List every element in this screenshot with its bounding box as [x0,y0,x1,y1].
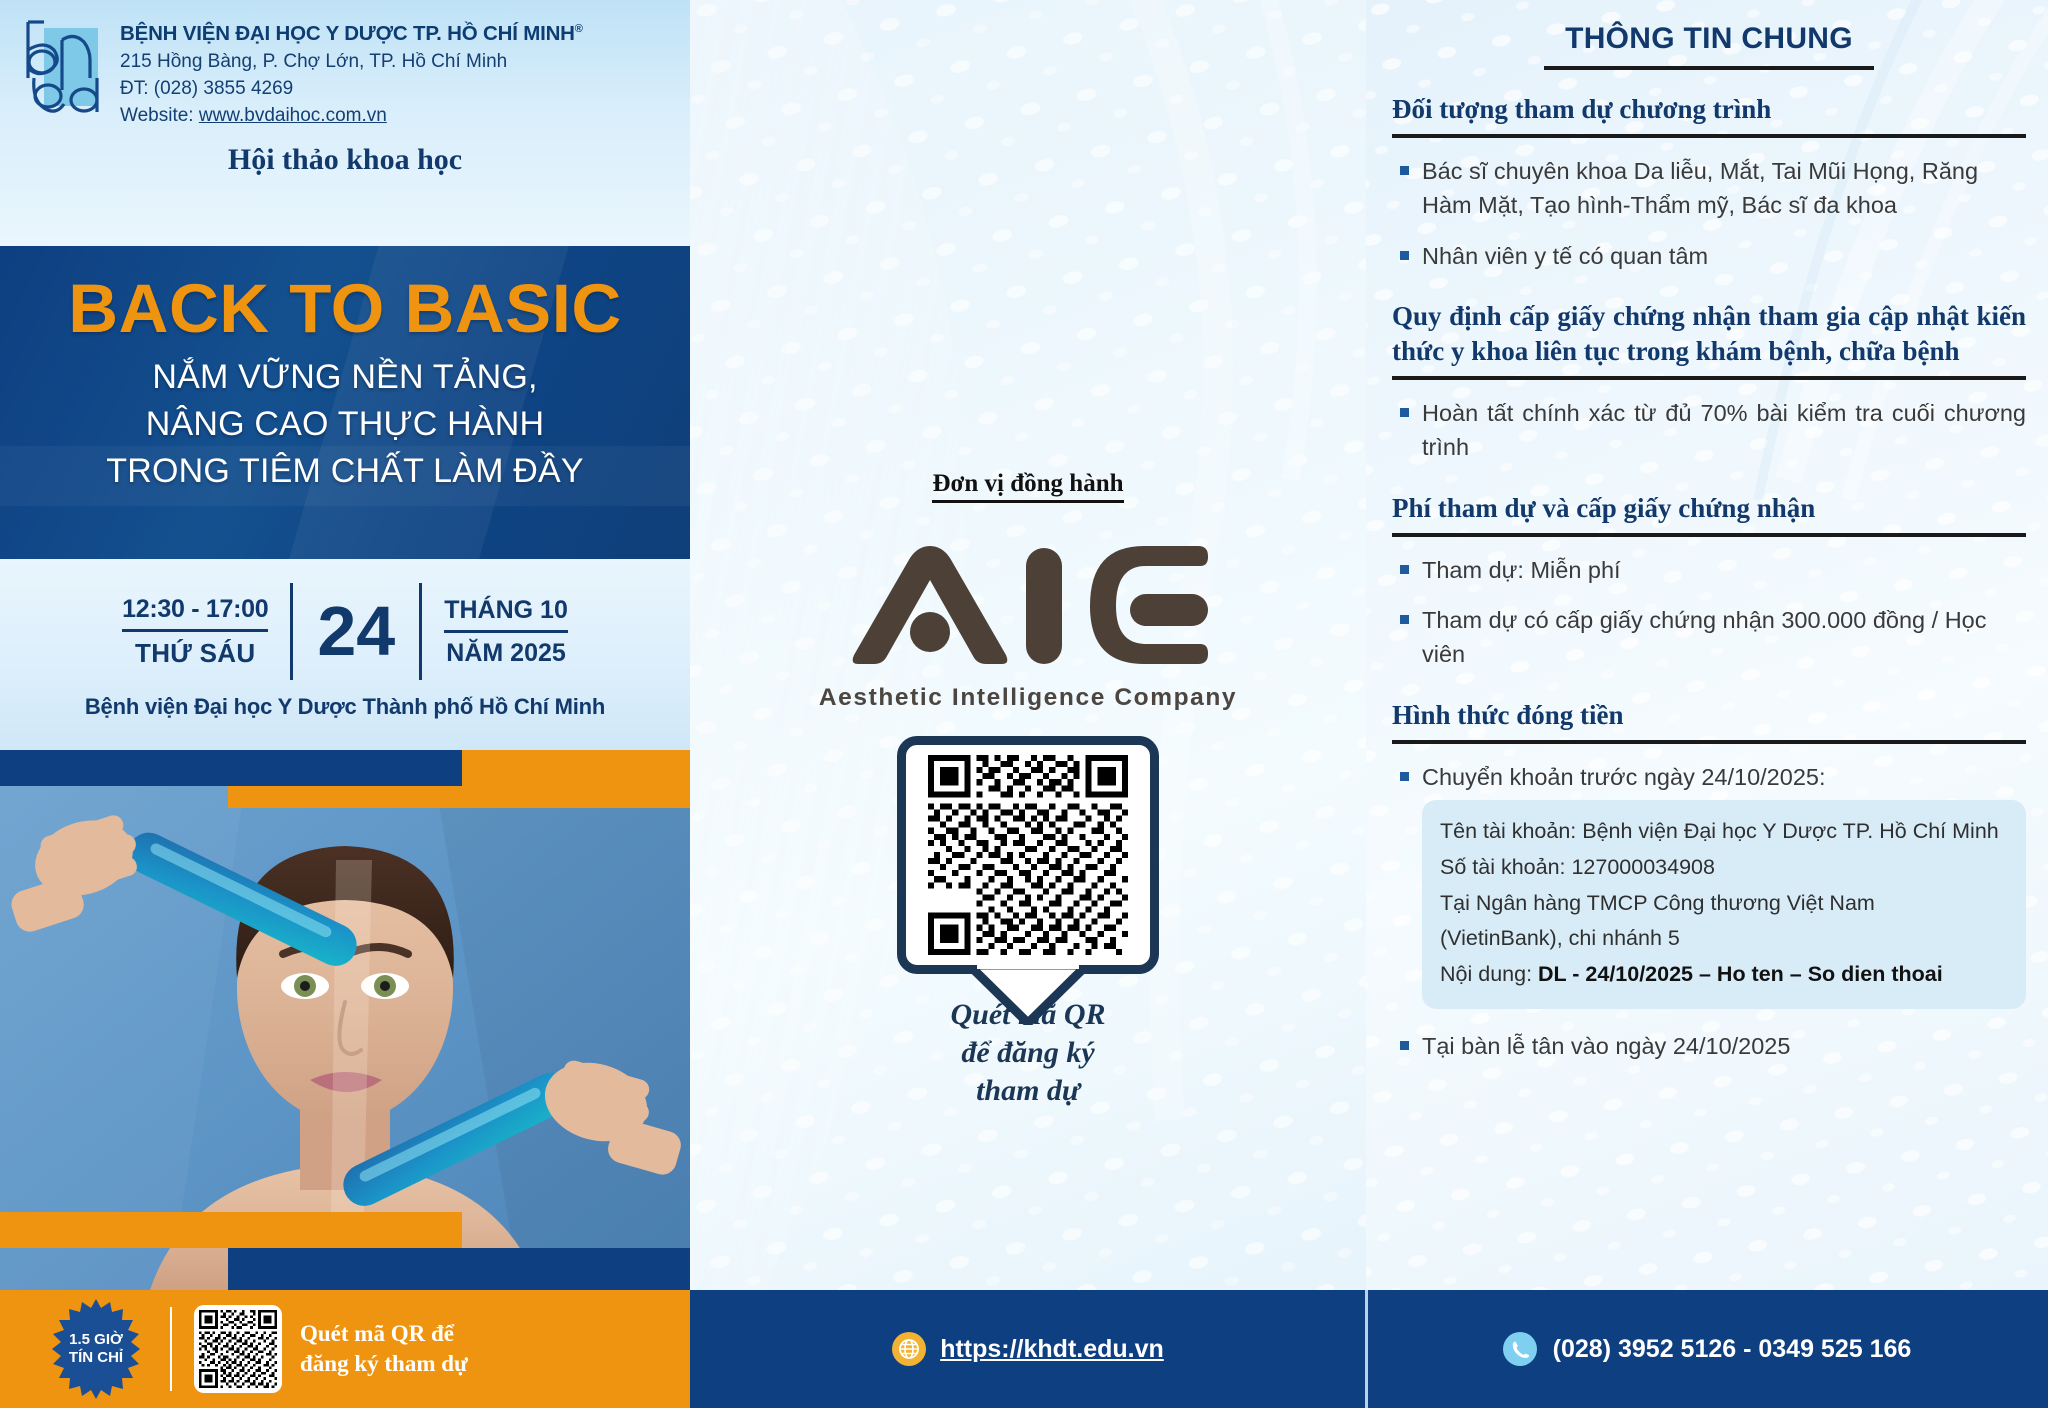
event-venue: Bệnh viện Đại học Y Dược Thành phố Hồ Ch… [0,694,690,720]
deco-bar-orange-bottom [0,1212,462,1248]
section-certificate-rules: Quy định cấp giấy chứng nhận tham gia cậ… [1392,299,2026,465]
bank-account-name: Tên tài khoản: Bệnh viện Đại học Y Dược … [1440,814,2008,850]
section-rule [1392,533,2026,537]
list-item: Chuyển khoản trước ngày 24/10/2025: [1392,760,2026,794]
event-kind: Hội thảo khoa học [0,143,690,177]
section-rule [1392,134,2026,138]
list-item: Tại bàn lễ tân vào ngày 24/10/2025 [1392,1029,2026,1063]
conference-poster: BỆNH VIỆN ĐẠI HỌC Y DƯỢC TP. HỒ CHÍ MINH… [0,0,2048,1408]
subtitle-line-3: TRONG TIÊM CHẤT LÀM ĐẦY [0,449,690,494]
section-certificate-rules-heading: Quy định cấp giấy chứng nhận tham gia cậ… [1392,299,2026,369]
middle-panel: Đơn vị đồng hành Aesthetic Intelligence … [690,0,1366,1408]
hero-photo-illustration [0,750,690,1290]
left-footer-cta: Quét mã QR để đăng ký tham dự [300,1319,468,1379]
main-title: BACK TO BASIC [0,246,690,343]
deco-bar-blue-top [0,750,462,786]
hospital-phone: ĐT: (028) 3855 4269 [120,78,583,100]
list-item: Bác sĩ chuyên khoa Da liễu, Mắt, Tai Mũi… [1392,154,2026,223]
bank-name-line-2: (VietinBank), chi nhánh 5 [1440,921,2008,957]
hospital-name: BỆNH VIỆN ĐẠI HỌC Y DƯỢC TP. HỒ CHÍ MINH… [120,22,583,46]
section-audience-heading: Đối tượng tham dự chương trình [1392,92,2026,127]
transfer-content-label: Nội dung: [1440,962,1532,986]
qr-pointer-tail [969,965,1087,1025]
title-underline [1544,66,1874,70]
section-fees-heading: Phí tham dự và cấp giấy chứng nhận [1392,491,2026,526]
footer-divider [170,1307,172,1391]
bank-details-box: Tên tài khoản: Bệnh viện Đại học Y Dược … [1422,800,2026,1008]
time-weekday-group: 12:30 - 17:00 THỨ SÁU [122,595,290,669]
section-rule [1392,376,2026,380]
section-rule [1392,740,2026,744]
left-footer-cta-line-1: Quét mã QR để [300,1319,468,1349]
list-item: Tham dự: Miễn phí [1392,553,2026,587]
left-panel: BỆNH VIỆN ĐẠI HỌC Y DƯỢC TP. HỒ CHÍ MINH… [0,0,690,1408]
globe-icon [892,1332,926,1366]
section-audience: Đối tượng tham dự chương trình Bác sĩ ch… [1392,92,2026,273]
registered-mark: ® [575,23,583,35]
credit-hours-value: 1.5 GIỜ [69,1331,123,1349]
scan-cta-line-2: để đăng ký [690,1034,1366,1072]
partner-label: Đơn vị đồng hành [690,0,1366,498]
event-time: 12:30 - 17:00 [122,595,268,624]
bank-account-number: Số tài khoản: 127000034908 [1440,850,2008,886]
deco-bar-orange-top [228,786,690,808]
title-block: BACK TO BASIC NẮM VỮNG NỀN TẢNG, NÂNG CA… [0,246,690,559]
event-day: 24 [293,598,419,665]
event-weekday: THỨ SÁU [122,638,268,669]
hospital-website-row: Website: www.bvdaihoc.com.vn [120,105,583,127]
transfer-content-value: DL - 24/10/2025 – Ho ten – So dien thoai [1538,962,1943,986]
middle-footer: https://khdt.edu.vn [690,1290,1366,1408]
bank-name-line-1: Tại Ngân hàng TMCP Công thương Việt Nam [1440,886,2008,922]
phone-icon [1503,1332,1537,1366]
hospital-monogram-logo [14,16,106,120]
date-time-block: 12:30 - 17:00 THỨ SÁU 24 THÁNG 10 NĂM 20… [0,559,690,750]
right-footer: (028) 3952 5126 - 0349 525 166 [1366,1290,2048,1408]
event-year: NĂM 2025 [444,639,568,668]
section-payment-heading: Hình thức đóng tiền [1392,698,2026,733]
hero-photo [0,750,690,1290]
scan-cta-line-3: tham dự [690,1072,1366,1110]
credit-hours-label: TÍN CHỈ [69,1349,123,1367]
registration-qr-code[interactable] [194,1305,282,1393]
hospital-header: BỆNH VIỆN ĐẠI HỌC Y DƯỢC TP. HỒ CHÍ MINH… [0,0,690,246]
program-website-link[interactable]: https://khdt.edu.vn [940,1335,1164,1364]
hospital-website-link[interactable]: www.bvdaihoc.com.vn [199,105,387,126]
list-item: Hoàn tất chính xác từ đủ 70% bài kiểm tr… [1392,396,2026,465]
footer-separator [1365,1290,1368,1408]
right-panel: THÔNG TIN CHUNG Đối tượng tham dự chương… [1366,0,2048,1408]
deco-bar-blue-bottom [228,1248,690,1290]
section-payment: Hình thức đóng tiền Chuyển khoản trước n… [1392,698,2026,1063]
credit-hours-badge: 1.5 GIỜ TÍN CHỈ [44,1297,148,1401]
right-panel-title: THÔNG TIN CHUNG [1392,0,2026,56]
registration-qr-code-large[interactable] [897,736,1159,974]
section-fees: Phí tham dự và cấp giấy chứng nhận Tham … [1392,491,2026,672]
event-month: THÁNG 10 [444,596,568,625]
transfer-content-row: Nội dung: DL - 24/10/2025 – Ho ten – So … [1440,957,2008,993]
subtitle-line-1: NẮM VỮNG NỀN TẢNG, [0,355,690,400]
list-item: Tham dự có cấp giấy chứng nhận 300.000 đ… [1392,603,2026,672]
list-item: Nhân viên y tế có quan tâm [1392,239,2026,273]
month-year-group: THÁNG 10 NĂM 2025 [422,596,568,668]
aic-partner-logo [848,546,1208,674]
website-label: Website: [120,105,194,126]
contact-phone: (028) 3952 5126 - 0349 525 166 [1553,1335,1912,1364]
aic-tagline: Aesthetic Intelligence Company [819,684,1237,712]
subtitle-line-2: NÂNG CAO THỰC HÀNH [0,402,690,447]
left-footer-cta-line-2: đăng ký tham dự [300,1349,468,1379]
hospital-address: 215 Hồng Bàng, P. Chợ Lớn, TP. Hồ Chí Mi… [120,51,583,73]
left-footer: 1.5 GIỜ TÍN CHỈ [0,1290,690,1408]
